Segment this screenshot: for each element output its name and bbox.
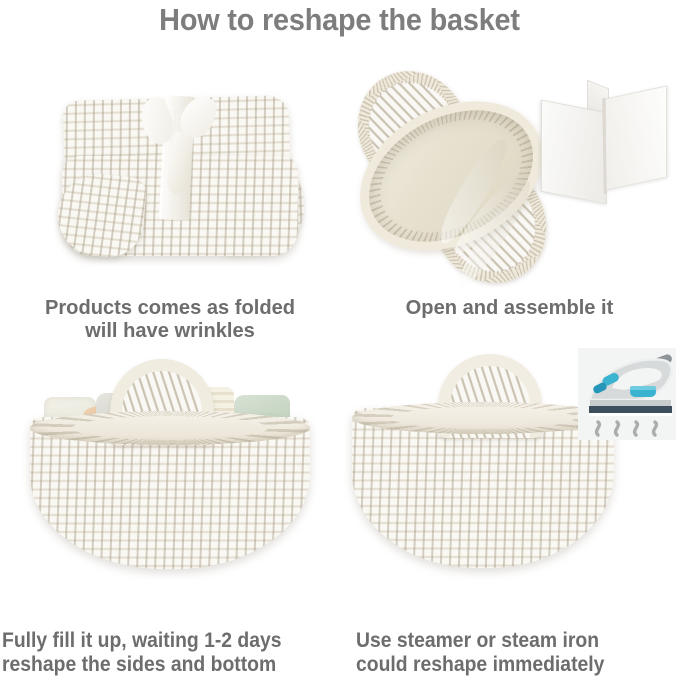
- folded-basket-graphic: [58, 96, 302, 264]
- flat-basket-graphic: [349, 66, 555, 284]
- step-fill-caption: Fully fill it up, waiting 1-2 days resha…: [2, 628, 317, 676]
- step-folded-caption: Products comes as folded will have wrink…: [3, 297, 336, 343]
- step-fill-image: [22, 355, 322, 577]
- steam-iron-icon: [578, 348, 676, 440]
- page-title: How to reshape the basket: [24, 2, 655, 38]
- divider-insert-graphic: [541, 84, 667, 204]
- step-steam-caption: Use steamer or steam iron could reshape …: [356, 628, 653, 676]
- infographic-root: How to reshape the basket Products comes…: [0, 0, 679, 687]
- step-open-image: [345, 62, 679, 290]
- divider-insert-right-panel: [605, 85, 667, 190]
- step-steam-image: [342, 348, 677, 578]
- basket-rim: [30, 411, 310, 445]
- step-folded-image: [40, 78, 320, 283]
- step-open-caption: Open and assemble it: [343, 297, 675, 320]
- divider-insert-left-panel: [541, 100, 607, 205]
- reshaped-basket-rim: [352, 402, 614, 434]
